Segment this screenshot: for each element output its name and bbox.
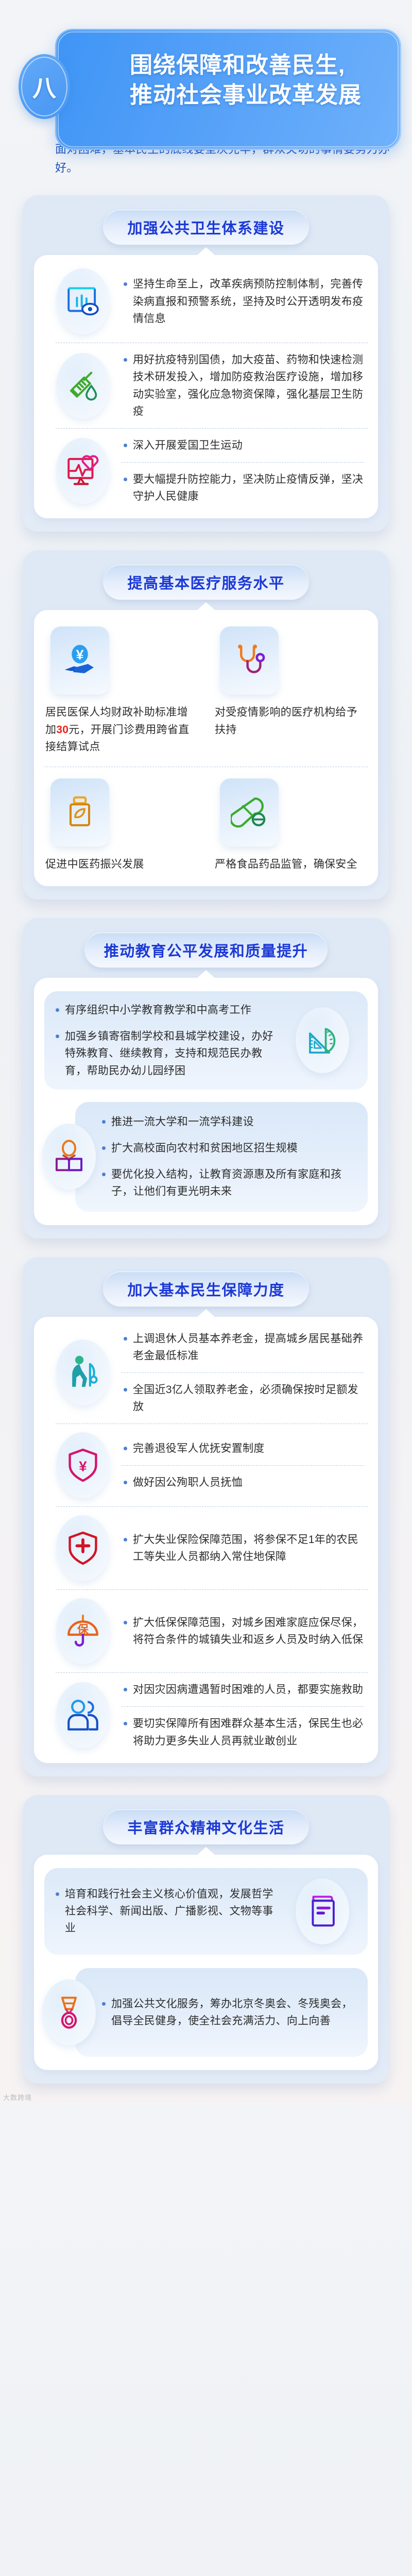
ruler-set-square-icon [304,1022,340,1058]
list-item: 保 扩大低保保障范围，对城乡困难家庭应保尽保，将符合条件的城镇失业和返乡人员及时… [44,1598,368,1664]
section-number: 八 [32,70,56,104]
bullet-item: 坚持生命至上，改革疾病预防控制体制，完善传染病直报和预警系统，坚持及时公开透明发… [122,276,364,327]
bullet-item: 有序组织中小学教育教学和中高考工作 [54,1002,282,1019]
bullet-list: 完善退役军人优抚安置制度 [122,1440,364,1457]
svg-text:¥: ¥ [76,647,83,663]
culture-group-b: 加强公共文化服务，筹办北京冬奥会、冬残奥会，倡导全民健身，使全社会充满活力、向上… [75,1968,368,2057]
bullet-item: 加强公共文化服务，筹办北京冬奥会、冬残奥会，倡导全民健身，使全社会充满活力、向上… [100,1995,354,2029]
section-livelihood: 加大基本民生保障力度 [23,1257,389,1776]
section-body: ¥ 居民医保人均财政补助标准增加30元，开展门诊费用跨省直接结算试点 [34,610,378,886]
icon-blob: 保 [56,1598,110,1664]
bullet-item: 要大幅提升防控能力，坚决防止疫情反弹，坚决守护人民健康 [122,471,364,505]
icon-blob [56,353,110,419]
divider [56,1506,368,1507]
bullet-item: 上调退休人员基本养老金，提高城乡居民基础养老金最低标准 [122,1330,364,1364]
monitor-chart-eye-icon [64,282,102,320]
list-item: 推进一流大学和一流学科建设 扩大高校面向农村和贫困地区招生规模 要优化投入结构，… [84,1113,358,1200]
list-item: 扩大失业保险保障范围，将参保不足1年的农民工等失业人员都纳入常住地保障 [44,1515,368,1581]
bullet-list: 要大幅提升防控能力，坚决防止疫情反弹，坚决守护人民健康 [122,471,364,505]
bullet-item: 用好抗疫特别国债，加大疫苗、药物和快速检测技术研发投入，增加防疫救治医疗设施，增… [122,351,364,420]
bullet-item: 扩大高校面向农村和贫困地区招生规模 [100,1140,354,1157]
row-icon [38,1124,100,1190]
monitor-heartbeat-icon [64,452,102,490]
elderly-walker-icon [64,1353,102,1392]
icon-blob [296,1007,349,1073]
icon-box [50,778,109,846]
bullet-list: 坚持生命至上，改革疾病预防控制体制，完善传染病直报和预警系统，坚持及时公开透明发… [122,276,364,327]
row-icon [286,1007,358,1073]
bullet-list: 扩大失业保险保障范围，将参保不足1年的农民工等失业人员都纳入常住地保障 [122,1531,364,1565]
svg-text:保: 保 [77,1623,89,1636]
icon-blob [56,268,110,334]
row-icon: ¥ [44,1432,122,1498]
icon-box [220,626,279,694]
section-body: 培育和践行社会主义核心价值观，发展哲学社会科学、新闻出版、广播影视、文物等事业 [34,1855,378,2070]
list-item: 促进中医药振兴发展 [44,775,198,873]
section-culture: 丰富群众精神文化生活 [23,1795,389,2083]
divider [122,1372,364,1373]
section-title: 提高基本医疗服务水平 [127,575,284,592]
bullet-list: 要切实保障所有困难群众基本生活，保民生也必将助力更多失业人员再就业敢创业 [122,1715,364,1749]
divider [122,1465,364,1466]
list-item: 上调退休人员基本养老金，提高城乡居民基础养老金最低标准 全国近3亿人领取养老金，… [44,1330,368,1416]
icon-blob [42,1979,96,2045]
row-text: 对因灾因病遭遇暂时困难的人员，都要实施救助 要切实保障所有困难群众基本生活，保民… [122,1681,368,1750]
bullet-item: 深入开展爱国卫生运动 [122,437,364,454]
row-text: 培育和践行社会主义核心价值观，发展哲学社会科学、新闻出版、广播影视、文物等事业 [54,1886,286,1937]
page-title-line2: 推动社会事业改革发展 [130,80,387,110]
syringe-vaccine-icon [64,367,102,405]
stethoscope-icon [231,642,268,679]
bullet-item: 要优化投入结构，让教育资源惠及所有家庭和孩子，让他们有更光明未来 [100,1166,354,1200]
bullet-list: 用好抗疫特别国债，加大疫苗、药物和快速检测技术研发投入，增加防疫救治医疗设施，增… [122,351,364,420]
icon-blob [42,1124,96,1190]
infographic-page: 围绕保障和改善民生, 推动社会事业改革发展 八 面对困难，基本民生的底线要坚决兜… [0,0,412,2104]
section-body: 坚持生命至上，改革疾病预防控制体制，完善传染病直报和预警系统，坚持及时公开透明发… [34,255,378,518]
row-icon [38,1979,100,2045]
bullet-item: 要切实保障所有困难群众基本生活，保民生也必将助力更多失业人员再就业敢创业 [122,1715,364,1749]
shield-yuan-icon: ¥ [64,1446,102,1484]
list-item: 坚持生命至上，改革疾病预防控制体制，完善传染病直报和预警系统，坚持及时公开透明发… [44,268,368,334]
section-title: 推动教育公平发展和质量提升 [104,943,308,960]
yuan-hand-subsidy-icon: ¥ [61,642,98,679]
section-title: 加大基本民生保障力度 [127,1282,284,1299]
icon-box [220,778,279,846]
bullet-item: 做好因公殉职人员抚恤 [122,1474,364,1491]
list-item: 用好抗疫特别国债，加大疫苗、药物和快速检测技术研发投入，增加防疫救治医疗设施，增… [44,351,368,420]
section-title: 加强公共卫生体系建设 [127,221,284,237]
divider [56,1672,368,1673]
section-number-badge: 八 [19,54,70,119]
section-title-pill: 丰富群众精神文化生活 [103,1809,309,1844]
row-icon [286,1878,358,1944]
bullet-list: 有序组织中小学教育教学和中高考工作 加强乡镇寄宿制学校和县城学校建设，办好特殊教… [54,1002,282,1079]
bullet-list: 推进一流大学和一流学科建设 扩大高校面向农村和贫困地区招生规模 要优化投入结构，… [100,1113,354,1200]
row-icon [44,1682,122,1748]
education-group-a: 有序组织中小学教育教学和中高考工作 加强乡镇寄宿制学校和县城学校建设，办好特殊教… [44,991,368,1090]
card-text: 促进中医药振兴发展 [44,856,144,873]
book-document-icon [304,1893,340,1929]
list-item: 深入开展爱国卫生运动 要大幅提升防控能力，坚决防止疫情反弹，坚决守护人民健康 [44,437,368,505]
list-item: 加强公共文化服务，筹办北京冬奥会、冬残奥会，倡导全民健身，使全社会充满活力、向上… [84,1979,358,2045]
bullet-item: 加强乡镇寄宿制学校和县城学校建设，办好特殊教育、继续教育，支持和规范民办教育，帮… [54,1028,282,1079]
bullet-list: 深入开展爱国卫生运动 [122,437,364,454]
bullet-item: 推进一流大学和一流学科建设 [100,1113,354,1130]
row-text: 上调退休人员基本养老金，提高城乡居民基础养老金最低标准 全国近3亿人领取养老金，… [122,1330,368,1416]
row-text: 推进一流大学和一流学科建设 扩大高校面向农村和贫困地区招生规模 要优化投入结构，… [100,1113,358,1200]
icon-blob [56,1340,110,1405]
medicine-bottle-leaf-icon [61,794,98,831]
capsule-pill-icon [231,794,268,831]
page-title: 围绕保障和改善民生, 推动社会事业改革发展 [130,50,387,110]
divider [56,1589,368,1590]
culture-group-a: 培育和践行社会主义核心价值观，发展哲学社会科学、新闻出版、广播影视、文物等事业 [44,1868,368,1955]
row-icon [44,1515,122,1581]
svg-text:¥: ¥ [79,1459,87,1475]
bullet-list: 全国近3亿人领取养老金，必须确保按时足额发放 [122,1381,364,1415]
list-item: ¥ 居民医保人均财政补助标准增加30元，开展门诊费用跨省直接结算试点 [44,623,198,755]
divider [122,1706,364,1707]
row-text: 加强公共文化服务，筹办北京冬奥会、冬残奥会，倡导全民健身，使全社会充满活力、向上… [100,1995,358,2029]
list-item: ¥ 完善退役军人优抚安置制度 做好因公殉职人员抚恤 [44,1432,368,1498]
two-people-icon [64,1696,102,1734]
row-text: 深入开展爱国卫生运动 要大幅提升防控能力，坚决防止疫情反弹，坚决守护人民健康 [122,437,368,505]
header-banner: 围绕保障和改善民生, 推动社会事业改革发展 [55,29,401,150]
bullet-list: 扩大低保保障范围，对城乡困难家庭应保尽保，将符合条件的城镇失业和返乡人员及时纳入… [122,1614,364,1648]
card-text: 居民医保人均财政补助标准增加30元，开展门诊费用跨省直接结算试点 [44,704,198,755]
divider [56,343,368,343]
card-text: 严格食品药品监管，确保安全 [214,856,357,873]
divider [44,767,368,767]
bullet-item: 培育和践行社会主义核心价值观，发展哲学社会科学、新闻出版、广播影视、文物等事业 [54,1886,282,1937]
row-text: 用好抗疫特别国债，加大疫苗、药物和快速检测技术研发投入，增加防疫救治医疗设施，增… [122,351,368,420]
bullet-item: 对因灾因病遭遇暂时困难的人员，都要实施救助 [122,1681,364,1698]
education-group-b: 推进一流大学和一流学科建设 扩大高校面向农村和贫困地区招生规模 要优化投入结构，… [75,1102,368,1212]
list-item: 有序组织中小学教育教学和中高考工作 加强乡镇寄宿制学校和县城学校建设，办好特殊教… [54,1002,358,1079]
section-medical-service: 提高基本医疗服务水平 ¥ 居民医保人均财政补助标准增加30元，开展门诊费用跨省直… [23,550,389,900]
section-public-health: 加强公共卫生体系建设 [23,195,389,532]
icon-blob [56,438,110,504]
row-text: 扩大低保保障范围，对城乡困难家庭应保尽保，将符合条件的城镇失业和返乡人员及时纳入… [122,1614,368,1648]
shield-cross-icon [64,1529,102,1567]
bullet-item: 扩大低保保障范围，对城乡困难家庭应保尽保，将符合条件的城镇失业和返乡人员及时纳入… [122,1614,364,1648]
section-title-pill: 推动教育公平发展和质量提升 [84,933,328,968]
icon-blob [296,1878,349,1944]
row-text: 坚持生命至上，改革疾病预防控制体制，完善传染病直报和预警系统，坚持及时公开透明发… [122,276,368,327]
list-item: 对因灾因病遭遇暂时困难的人员，都要实施救助 要切实保障所有困难群众基本生活，保民… [44,1681,368,1750]
row-icon: 保 [44,1598,122,1664]
section-title: 丰富群众精神文化生活 [127,1820,284,1837]
section-title-pill: 加强公共卫生体系建设 [103,210,309,245]
row-text: 完善退役军人优抚安置制度 做好因公殉职人员抚恤 [122,1440,368,1491]
umbrella-bao-icon: 保 [64,1612,102,1650]
section-title-pill: 提高基本医疗服务水平 [103,565,309,600]
icon-box: ¥ [50,626,109,694]
bullet-item: 扩大失业保险保障范围，将参保不足1年的农民工等失业人员都纳入常住地保障 [122,1531,364,1565]
section-title-pill: 加大基本民生保障力度 [103,1272,309,1307]
card-grid: ¥ 居民医保人均财政补助标准增加30元，开展门诊费用跨省直接结算试点 [44,623,368,873]
watermark: 大数跨境 [3,2092,32,2102]
section-body: 有序组织中小学教育教学和中高考工作 加强乡镇寄宿制学校和县城学校建设，办好特殊教… [34,978,378,1225]
bullet-list: 加强公共文化服务，筹办北京冬奥会、冬残奥会，倡导全民健身，使全社会充满活力、向上… [100,1995,354,2029]
row-text: 有序组织中小学教育教学和中高考工作 加强乡镇寄宿制学校和县城学校建设，办好特殊教… [54,1002,286,1079]
row-icon [44,268,122,334]
bullet-item: 完善退役军人优抚安置制度 [122,1440,364,1457]
highlight-value: 30 [56,724,68,736]
section-education: 推动教育公平发展和质量提升 [23,918,389,1238]
bullet-list: 上调退休人员基本养老金，提高城乡居民基础养老金最低标准 [122,1330,364,1364]
list-item: 对受疫情影响的医疗机构给予扶持 [214,623,368,755]
bullet-list: 培育和践行社会主义核心价值观，发展哲学社会科学、新闻出版、广播影视、文物等事业 [54,1886,282,1937]
divider [122,462,364,463]
bullet-item: 全国近3亿人领取养老金，必须确保按时足额发放 [122,1381,364,1415]
card-text: 对受疫情影响的医疗机构给予扶持 [214,704,368,738]
row-icon [44,353,122,419]
icon-blob [56,1682,110,1748]
bullet-list: 对因灾因病遭遇暂时困难的人员，都要实施救助 [122,1681,364,1698]
section-body: 上调退休人员基本养老金，提高城乡居民基础养老金最低标准 全国近3亿人领取养老金，… [34,1317,378,1763]
divider [56,428,368,429]
row-icon [44,438,122,504]
row-text: 扩大失业保险保障范围，将参保不足1年的农民工等失业人员都纳入常住地保障 [122,1531,368,1565]
page-title-line1: 围绕保障和改善民生, [130,50,387,80]
list-item: 严格食品药品监管，确保安全 [214,775,368,873]
list-item: 培育和践行社会主义核心价值观，发展哲学社会科学、新闻出版、广播影视、文物等事业 [54,1878,358,1944]
page-header: 围绕保障和改善民生, 推动社会事业改革发展 八 [0,0,412,134]
medal-icon [51,1994,87,2030]
icon-blob: ¥ [56,1432,110,1498]
bullet-list: 做好因公殉职人员抚恤 [122,1474,364,1491]
icon-blob [56,1515,110,1581]
graduate-book-icon [51,1139,87,1175]
row-icon [44,1340,122,1405]
divider [56,1423,368,1424]
